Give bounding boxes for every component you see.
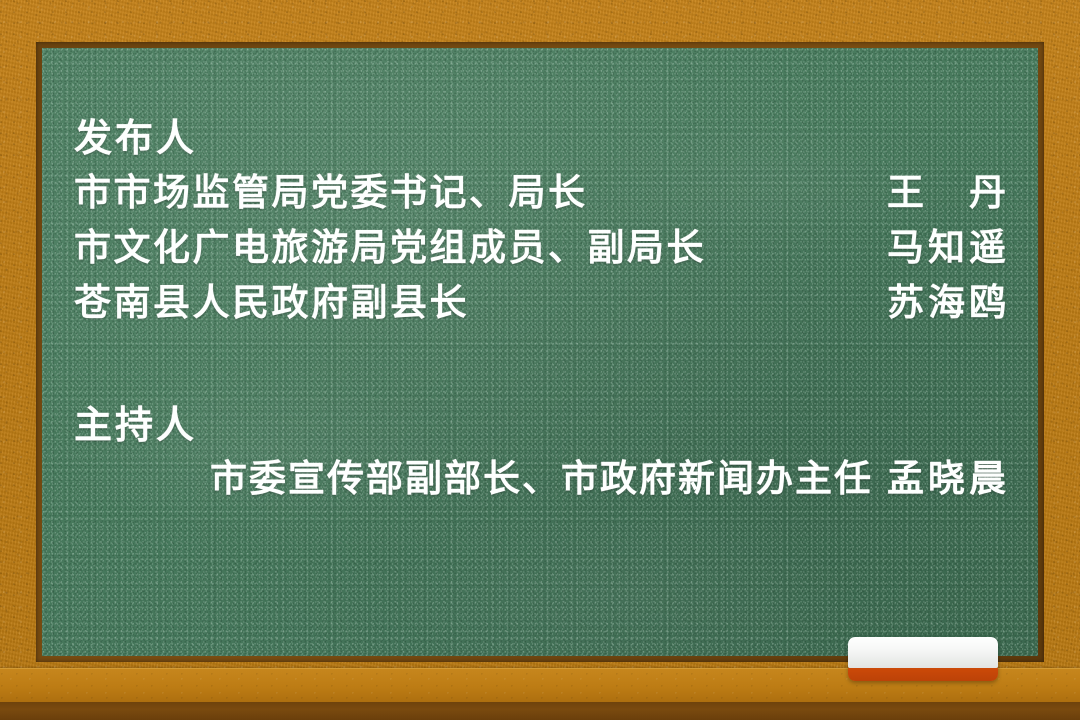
announcer-row-3: 苍南县人民政府副县长 苏海鸥 [74,279,1010,326]
announcer-name-3: 苏海鸥 [887,279,1010,326]
host-name-1: 孟晓晨 [887,455,1010,502]
host-row-1: 市委宣传部副部长、市政府新闻办主任 孟晓晨 [74,455,1010,502]
announcer-section: 发布人 市市场监管局党委书记、局长 王 丹 市文化广电旅游局党组成员、副局长 马… [74,118,1010,327]
blackboard-inner-bevel: 发布人 市市场监管局党委书记、局长 王 丹 市文化广电旅游局党组成员、副局长 马… [36,42,1044,662]
eraser-felt-pad [848,637,998,668]
announcer-title-3: 苍南县人民政府副县长 [74,279,469,326]
host-section: 主持人 市委宣传部副部长、市政府新闻办主任 孟晓晨 [74,405,1010,503]
announcer-name-2: 马知遥 [887,224,1010,271]
blackboard-outer-frame: 发布人 市市场监管局党委书记、局长 王 丹 市文化广电旅游局党组成员、副局长 马… [0,0,1080,720]
announcer-name-1: 王 丹 [887,169,1010,216]
chalk-tray-shadow [0,702,1080,720]
announcer-title-2: 市文化广电旅游局党组成员、副局长 [74,224,706,271]
chalkboard-content: 发布人 市市场监管局党委书记、局长 王 丹 市文化广电旅游局党组成员、副局长 马… [74,118,1010,503]
eraser-handle-body [848,668,998,681]
host-section-heading: 主持人 [74,405,1010,448]
announcer-section-heading: 发布人 [74,118,1010,161]
announcer-row-2: 市文化广电旅游局党组成员、副局长 马知遥 [74,224,1010,271]
chalkboard-surface: 发布人 市市场监管局党委书记、局长 王 丹 市文化广电旅游局党组成员、副局长 马… [42,48,1038,656]
announcer-row-1: 市市场监管局党委书记、局长 王 丹 [74,169,1010,216]
announcer-title-1: 市市场监管局党委书记、局长 [74,169,588,216]
blackboard-eraser[interactable] [848,637,998,681]
host-title-1: 市委宣传部副部长、市政府新闻办主任 [210,455,873,502]
